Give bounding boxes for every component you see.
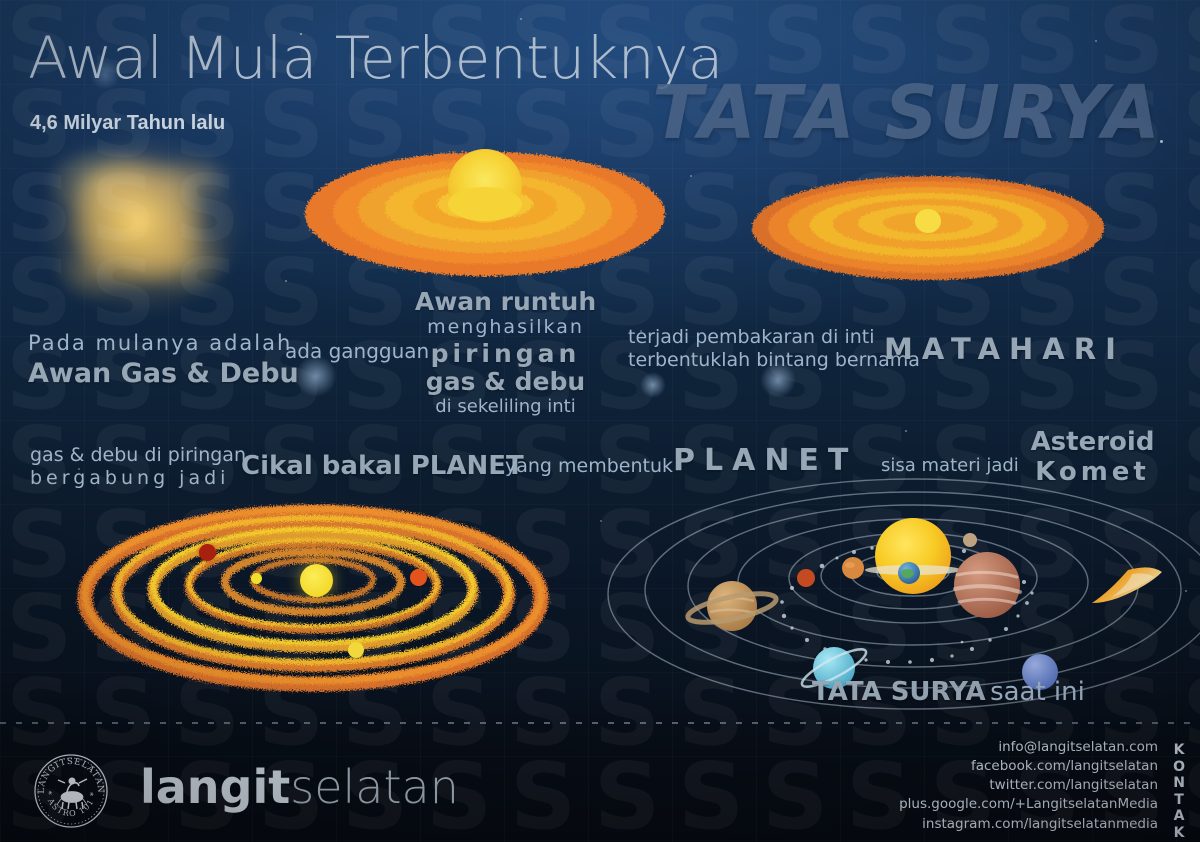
kontak-char-n: N bbox=[1173, 775, 1186, 792]
caption-protoplanets: Cikal bakal PLANET bbox=[241, 452, 524, 481]
label-tata-surya: TATA SURYA bbox=[812, 677, 986, 707]
caption-ignition-line2: terbentuklah bintang bernama bbox=[628, 350, 920, 371]
planetesimal-small-yellow bbox=[251, 573, 262, 584]
infographic-poster: Awal Mula Terbentuknya 4,6 Milyar Tahun … bbox=[0, 0, 1200, 842]
brand-wordmark: langitselatan bbox=[140, 760, 459, 814]
caption-cloud-line1: Pada mulanya adalah bbox=[28, 332, 268, 356]
caption-cloud: Pada mulanya adalah Awan Gas & Debu bbox=[28, 332, 268, 389]
caption-accretion: gas & debu di piringan bergabung jadi bbox=[30, 445, 220, 490]
brand-light: selatan bbox=[290, 760, 459, 814]
kontak-char-k2: K bbox=[1173, 825, 1186, 842]
contact-instagram[interactable]: instagram.com/langitselatanmedia bbox=[899, 815, 1158, 834]
caption-solar-system: TATA SURYA saat ini bbox=[812, 678, 1085, 707]
contact-list: info@langitselatan.com facebook.com/lang… bbox=[899, 738, 1158, 834]
caption-collapse: Awan runtuh menghasilkan piringan gas & … bbox=[408, 288, 603, 417]
gas-dust-cloud-visual bbox=[16, 118, 268, 333]
kontak-char-a: A bbox=[1173, 808, 1186, 825]
caption-collapse-line3: piringan bbox=[408, 340, 603, 368]
svg-text:LANGITSELATAN: LANGITSELATAN bbox=[37, 757, 105, 794]
caption-collapse-line4: gas & debu bbox=[408, 368, 603, 396]
kontak-char-o: O bbox=[1173, 759, 1186, 776]
page-title: Awal Mula Terbentuknya bbox=[28, 24, 723, 92]
caption-planet: PLANET bbox=[673, 444, 857, 478]
contact-googleplus[interactable]: plus.google.com/+LangitselatanMedia bbox=[899, 795, 1158, 814]
caption-forming: yang membentuk bbox=[505, 456, 673, 477]
caption-small-bodies: Asteroid Komet bbox=[1010, 428, 1175, 487]
caption-forming-line1: yang membentuk bbox=[505, 456, 673, 477]
comet bbox=[1092, 567, 1162, 603]
caption-accretion-line1: gas & debu di piringan bbox=[30, 445, 220, 466]
caption-leftover: sisa materi jadi bbox=[881, 456, 1019, 476]
contact-facebook[interactable]: facebook.com/langitselatan bbox=[899, 757, 1158, 776]
planet-mars bbox=[797, 569, 815, 587]
planet-venus bbox=[842, 557, 864, 579]
planetesimal-yellow bbox=[348, 642, 364, 658]
contact-email[interactable]: info@langitselatan.com bbox=[899, 738, 1158, 757]
label-matahari: MATAHARI bbox=[884, 333, 1125, 365]
caption-cloud-line2: Awan Gas & Debu bbox=[28, 359, 268, 389]
label-protoplanets: Cikal bakal PLANET bbox=[241, 452, 524, 481]
footer-divider bbox=[0, 722, 1200, 724]
label-planet: PLANET bbox=[673, 444, 857, 478]
kontak-vertical-label: K O N T A K bbox=[1173, 742, 1186, 841]
langitselatan-logo[interactable]: LANGITSELATAN * ASTRO 101 * bbox=[32, 752, 110, 830]
protoplanetary-disk-bulge-visual bbox=[300, 138, 670, 288]
watermark-title: TATA SURYA bbox=[652, 70, 1162, 156]
caption-collapse-line1: Awan runtuh bbox=[408, 288, 603, 316]
caption-accretion-line2: bergabung jadi bbox=[30, 468, 220, 489]
label-saat-ini: saat ini bbox=[990, 677, 1085, 707]
caption-ignition-line1: terjadi pembakaran di inti bbox=[628, 327, 920, 348]
caption-matahari: MATAHARI bbox=[884, 333, 1125, 365]
caption-collapse-line5: di sekeliling inti bbox=[408, 397, 603, 417]
caption-ignition: terjadi pembakaran di inti terbentuklah … bbox=[628, 327, 920, 372]
caption-collapse-line2: menghasilkan bbox=[408, 317, 603, 338]
label-komet: Komet bbox=[1010, 458, 1175, 487]
planetesimal-mars-like bbox=[199, 544, 216, 561]
brand-bold: langit bbox=[140, 760, 290, 814]
planetesimal-orange bbox=[410, 569, 427, 586]
label-asteroid: Asteroid bbox=[1010, 428, 1175, 457]
planet-mercury-visible bbox=[963, 533, 977, 547]
contact-twitter[interactable]: twitter.com/langitselatan bbox=[899, 776, 1158, 795]
caption-leftover-line1: sisa materi jadi bbox=[881, 456, 1019, 476]
kontak-char-k: K bbox=[1173, 742, 1186, 759]
planetesimal-core-star bbox=[300, 564, 333, 597]
flat-disk-star-visual bbox=[748, 168, 1108, 288]
kontak-char-t: T bbox=[1173, 792, 1186, 809]
